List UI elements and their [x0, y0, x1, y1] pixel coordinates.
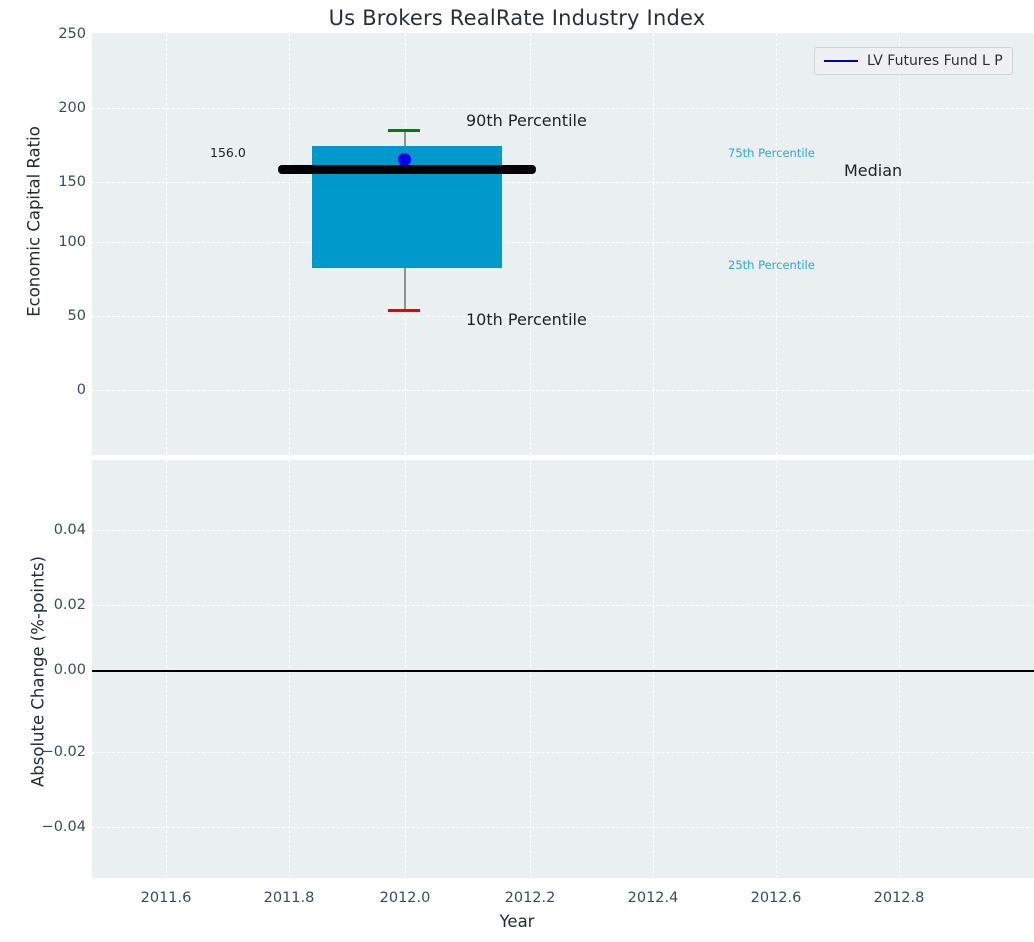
gridline-y-200: [92, 108, 1034, 109]
fund-marker-dot: [398, 153, 411, 166]
bottom-plot-area: [92, 460, 1034, 878]
line-swatch-icon: [824, 60, 858, 62]
gridline-y-0: [92, 390, 1034, 391]
chart-figure: Us Brokers RealRate Industry Index 156.0: [0, 0, 1034, 942]
xtick-2012-0: 2012.0: [380, 890, 431, 906]
gridline-xb-2011-8: [289, 460, 290, 878]
ytick-200: 200: [2, 100, 86, 116]
ytick-50: 50: [2, 308, 86, 324]
legend-label-0: LV Futures Fund L P: [867, 53, 1003, 69]
gridline-xb-2012-8: [899, 460, 900, 878]
xtick-2012-2: 2012.2: [505, 890, 556, 906]
p75-annotation: 75th Percentile: [728, 146, 815, 160]
legend[interactable]: LV Futures Fund L P: [814, 47, 1013, 75]
ytick-150: 150: [2, 174, 86, 190]
gridline-y-neg-0-04: [92, 827, 1034, 828]
gridline-xb-2011-6: [166, 460, 167, 878]
p10-cap: [388, 309, 420, 312]
xtick-2012-6: 2012.6: [751, 890, 802, 906]
xtick-2011-6: 2011.6: [141, 890, 192, 906]
gridline-x-2012-4: [653, 33, 654, 455]
ytick-250: 250: [2, 26, 86, 42]
p90-cap: [388, 129, 420, 132]
chart-title: Us Brokers RealRate Industry Index: [0, 6, 1034, 30]
gridline-y-0-04: [92, 530, 1034, 531]
xtick-2012-4: 2012.4: [628, 890, 679, 906]
xtick-2011-8: 2011.8: [264, 890, 315, 906]
median-bar: [278, 165, 536, 174]
zero-reference-line: [92, 670, 1034, 672]
gridline-xb-2012-0: [405, 460, 406, 878]
ytick-100: 100: [2, 234, 86, 250]
p90-annotation: 90th Percentile: [466, 111, 587, 130]
gridline-y-100: [92, 242, 1034, 243]
p25-annotation: 25th Percentile: [728, 258, 815, 272]
gridline-x-2012-6: [776, 33, 777, 455]
gridline-xb-2012-4: [653, 460, 654, 878]
p10-annotation: 10th Percentile: [466, 310, 587, 329]
gridline-y-150: [92, 182, 1034, 183]
gridline-y-neg-0-02: [92, 752, 1034, 753]
y-axis-label-bottom: Absolute Change (%-points): [29, 512, 48, 832]
median-value-label: 156.0: [210, 145, 246, 160]
gridline-x-2012-2: [530, 33, 531, 455]
gridline-x-2012-8: [899, 33, 900, 455]
median-annotation: Median: [844, 161, 902, 180]
ytick-0: 0: [2, 382, 86, 398]
x-axis-label: Year: [0, 912, 1034, 931]
gridline-x-2011-8: [289, 33, 290, 455]
gridline-y-0-02: [92, 605, 1034, 606]
top-plot-area: 156.0 90th Percentile 10th Percentile 75…: [92, 33, 1034, 455]
gridline-xb-2012-2: [530, 460, 531, 878]
gridline-xb-2012-6: [776, 460, 777, 878]
xtick-2012-8: 2012.8: [874, 890, 925, 906]
gridline-x-2011-6: [166, 33, 167, 455]
y-axis-label-top: Economic Capital Ratio: [25, 92, 44, 352]
